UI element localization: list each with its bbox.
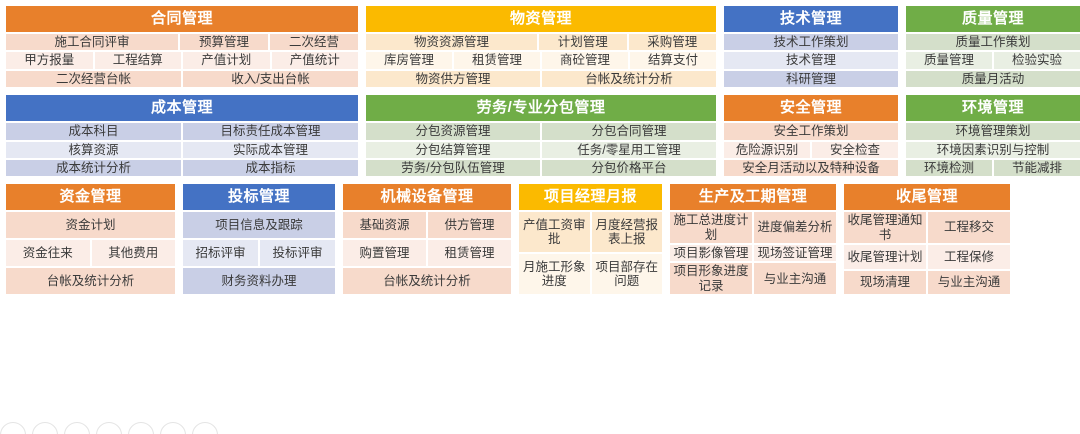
- decorative-circle: [160, 422, 186, 434]
- module-card-title[interactable]: 物资管理: [366, 6, 716, 32]
- module-cell-row: 基础资源供方管理: [343, 212, 511, 238]
- module-item[interactable]: 安全检查: [812, 142, 898, 158]
- module-item[interactable]: 分包价格平台: [542, 160, 716, 176]
- module-item[interactable]: 与业主沟通: [928, 271, 1010, 295]
- module-cell-row: 分包资源管理分包合同管理: [366, 123, 716, 139]
- module-card-title[interactable]: 技术管理: [724, 6, 898, 32]
- module-item[interactable]: 项目信息及跟踪: [183, 212, 335, 238]
- module-item[interactable]: 采购管理: [629, 34, 717, 50]
- module-item[interactable]: 安全月活动以及特种设备: [724, 160, 898, 176]
- module-cell-row: 项目信息及跟踪: [183, 212, 335, 238]
- module-card: 安全管理安全工作策划危险源识别安全检查安全月活动以及特种设备: [724, 95, 898, 176]
- module-card-title[interactable]: 劳务/专业分包管理: [366, 95, 716, 121]
- module-card-body: 产值工资审批月度经营报表上报月施工形象进度项目部存在问题: [519, 210, 662, 294]
- module-card: 质量管理质量工作策划质量管理检验实验质量月活动: [906, 6, 1080, 87]
- module-cell-row: 库房管理租赁管理商砼管理结算支付: [366, 52, 716, 68]
- module-cell-row: 危险源识别安全检查: [724, 142, 898, 158]
- module-card-body: 资金计划资金往来其他费用台帐及统计分析: [6, 210, 175, 294]
- module-cell-row: 成本科目目标责任成本管理: [6, 123, 358, 139]
- module-item[interactable]: 目标责任成本管理: [183, 123, 358, 139]
- module-cell-row: 现场清理与业主沟通: [844, 271, 1010, 295]
- module-cell-row: 收尾管理通知书工程移交: [844, 212, 1010, 243]
- module-item[interactable]: 资金计划: [6, 212, 175, 238]
- module-card-body: 项目信息及跟踪招标评审投标评审财务资料办理: [183, 210, 335, 294]
- decorative-circle: [32, 422, 58, 434]
- decorative-circle: [0, 422, 26, 434]
- module-card-body: 收尾管理通知书工程移交收尾管理计划工程保修现场清理与业主沟通: [844, 210, 1010, 294]
- module-item[interactable]: 工程保修: [928, 245, 1010, 269]
- module-cell-row: 质量工作策划: [906, 34, 1080, 50]
- module-item[interactable]: 租赁管理: [428, 240, 511, 266]
- module-item[interactable]: 月施工形象进度: [519, 254, 590, 294]
- module-item[interactable]: 工程结算: [95, 52, 182, 68]
- module-item[interactable]: 实际成本管理: [183, 142, 358, 158]
- module-card: 资金管理资金计划资金往来其他费用台帐及统计分析: [6, 184, 175, 294]
- module-item[interactable]: 二次经营台帐: [6, 71, 181, 87]
- module-cell-row: 甲方报量工程结算产值计划产值统计: [6, 52, 358, 68]
- module-card-title[interactable]: 机械设备管理: [343, 184, 511, 210]
- module-item[interactable]: 台帐及统计分析: [542, 71, 716, 87]
- module-cell-row: 物资资源管理计划管理采购管理: [366, 34, 716, 50]
- module-cell-row: 科研管理: [724, 71, 898, 87]
- module-card-title[interactable]: 质量管理: [906, 6, 1080, 32]
- module-card: 投标管理项目信息及跟踪招标评审投标评审财务资料办理: [183, 184, 335, 294]
- module-cell-row: 安全月活动以及特种设备: [724, 160, 898, 176]
- module-cell-row: 项目形象进度记录与业主沟通: [670, 263, 836, 294]
- module-cell-row: 质量管理检验实验: [906, 52, 1080, 68]
- module-card: 合同管理施工合同评审预算管理二次经营甲方报量工程结算产值计划产值统计二次经营台帐…: [6, 6, 358, 87]
- module-card-title[interactable]: 安全管理: [724, 95, 898, 121]
- module-card-body: 施工合同评审预算管理二次经营甲方报量工程结算产值计划产值统计二次经营台帐收入/支…: [6, 32, 358, 87]
- module-item[interactable]: 资金往来: [6, 240, 90, 266]
- module-item[interactable]: 任务/零星用工管理: [542, 142, 716, 158]
- module-cell-row: 收尾管理计划工程保修: [844, 245, 1010, 269]
- module-item[interactable]: 现场清理: [844, 271, 926, 295]
- module-card-body: 物资资源管理计划管理采购管理库房管理租赁管理商砼管理结算支付物资供方管理台帐及统…: [366, 32, 716, 87]
- module-item[interactable]: 投标评审: [260, 240, 335, 266]
- module-item[interactable]: 分包结算管理: [366, 142, 540, 158]
- module-item[interactable]: 安全工作策划: [724, 123, 898, 139]
- module-card: 物资管理物资资源管理计划管理采购管理库房管理租赁管理商砼管理结算支付物资供方管理…: [366, 6, 716, 87]
- module-item[interactable]: 预算管理: [180, 34, 268, 50]
- module-item[interactable]: 检验实验: [994, 52, 1080, 68]
- module-item[interactable]: 商砼管理: [542, 52, 628, 68]
- module-item[interactable]: 成本科目: [6, 123, 181, 139]
- module-cell-row: 劳务/分包队伍管理分包价格平台: [366, 160, 716, 176]
- module-cell-row: 施工合同评审预算管理二次经营: [6, 34, 358, 50]
- module-item[interactable]: 技术工作策划: [724, 34, 898, 50]
- module-card: 项目经理月报产值工资审批月度经营报表上报月施工形象进度项目部存在问题: [519, 184, 662, 294]
- module-item[interactable]: 月度经营报表上报: [592, 212, 663, 252]
- module-item[interactable]: 库房管理: [366, 52, 452, 68]
- module-item[interactable]: 质量工作策划: [906, 34, 1080, 50]
- module-card: 技术管理技术工作策划技术管理科研管理: [724, 6, 898, 87]
- module-item[interactable]: 产值统计: [272, 52, 359, 68]
- module-row: 合同管理施工合同评审预算管理二次经营甲方报量工程结算产值计划产值统计二次经营台帐…: [6, 6, 1074, 87]
- module-item[interactable]: 环境因素识别与控制: [906, 142, 1080, 158]
- module-item[interactable]: 施工总进度计划: [670, 212, 752, 243]
- module-item[interactable]: 台帐及统计分析: [6, 268, 175, 294]
- module-card: 成本管理成本科目目标责任成本管理核算资源实际成本管理成本统计分析成本指标: [6, 95, 358, 176]
- module-item[interactable]: 产值工资审批: [519, 212, 590, 252]
- module-item[interactable]: 甲方报量: [6, 52, 93, 68]
- module-item[interactable]: 供方管理: [428, 212, 511, 238]
- module-item[interactable]: 核算资源: [6, 142, 181, 158]
- module-card-title[interactable]: 收尾管理: [844, 184, 1010, 210]
- module-item[interactable]: 租赁管理: [454, 52, 540, 68]
- module-cell-row: 财务资料办理: [183, 268, 335, 294]
- module-item[interactable]: 结算支付: [630, 52, 716, 68]
- module-item[interactable]: 质量管理: [906, 52, 992, 68]
- module-item[interactable]: 招标评审: [183, 240, 258, 266]
- module-cell-row: 质量月活动: [906, 71, 1080, 87]
- module-item[interactable]: 产值计划: [183, 52, 270, 68]
- module-cell-row: 环境因素识别与控制: [906, 142, 1080, 158]
- module-card: 机械设备管理基础资源供方管理购置管理租赁管理台帐及统计分析: [343, 184, 511, 294]
- module-cell-row: 资金往来其他费用: [6, 240, 175, 266]
- module-cell-row: 核算资源实际成本管理: [6, 142, 358, 158]
- module-card-title[interactable]: 投标管理: [183, 184, 335, 210]
- module-card-body: 基础资源供方管理购置管理租赁管理台帐及统计分析: [343, 210, 511, 294]
- module-item[interactable]: 成本指标: [183, 160, 358, 176]
- module-item[interactable]: 物资资源管理: [366, 34, 537, 50]
- module-card: 生产及工期管理施工总进度计划进度偏差分析项目影像管理现场签证管理项目形象进度记录…: [670, 184, 836, 294]
- module-item[interactable]: 收尾管理计划: [844, 245, 926, 269]
- decorative-circles: [0, 422, 218, 434]
- module-card-body: 环境管理策划环境因素识别与控制环境检测节能减排: [906, 121, 1080, 176]
- module-map-canvas: 合同管理施工合同评审预算管理二次经营甲方报量工程结算产值计划产值统计二次经营台帐…: [0, 0, 1080, 434]
- module-item[interactable]: 质量月活动: [906, 71, 1080, 87]
- module-card-body: 施工总进度计划进度偏差分析项目影像管理现场签证管理项目形象进度记录与业主沟通: [670, 210, 836, 294]
- module-item[interactable]: 与业主沟通: [754, 263, 836, 294]
- module-item[interactable]: 劳务/分包队伍管理: [366, 160, 540, 176]
- module-cell-row: 资金计划: [6, 212, 175, 238]
- module-item[interactable]: 物资供方管理: [366, 71, 540, 87]
- module-item[interactable]: 其他费用: [92, 240, 176, 266]
- module-card-title[interactable]: 环境管理: [906, 95, 1080, 121]
- module-item[interactable]: 节能减排: [994, 160, 1080, 176]
- module-card-title[interactable]: 项目经理月报: [519, 184, 662, 210]
- module-item[interactable]: 成本统计分析: [6, 160, 181, 176]
- module-card-body: 技术工作策划技术管理科研管理: [724, 32, 898, 87]
- module-card: 环境管理环境管理策划环境因素识别与控制环境检测节能减排: [906, 95, 1080, 176]
- module-item[interactable]: 分包合同管理: [542, 123, 716, 139]
- module-cell-row: 技术管理: [724, 52, 898, 68]
- module-item[interactable]: 财务资料办理: [183, 268, 335, 294]
- module-item[interactable]: 项目影像管理: [670, 245, 752, 261]
- module-cell-row: 施工总进度计划进度偏差分析: [670, 212, 836, 243]
- module-item[interactable]: 工程移交: [928, 212, 1010, 243]
- decorative-circle: [192, 422, 218, 434]
- module-cell-row: 分包结算管理任务/零星用工管理: [366, 142, 716, 158]
- module-item[interactable]: 进度偏差分析: [754, 212, 836, 243]
- decorative-circle: [64, 422, 90, 434]
- module-card-body: 成本科目目标责任成本管理核算资源实际成本管理成本统计分析成本指标: [6, 121, 358, 176]
- decorative-circle: [96, 422, 122, 434]
- module-card-title[interactable]: 成本管理: [6, 95, 358, 121]
- module-item[interactable]: 环境管理策划: [906, 123, 1080, 139]
- module-cell-row: 二次经营台帐收入/支出台帐: [6, 71, 358, 87]
- module-card-title[interactable]: 合同管理: [6, 6, 358, 32]
- module-item[interactable]: 危险源识别: [724, 142, 810, 158]
- module-item[interactable]: 基础资源: [343, 212, 426, 238]
- module-cell-row: 成本统计分析成本指标: [6, 160, 358, 176]
- module-cell-row: 招标评审投标评审: [183, 240, 335, 266]
- module-cell-row: 安全工作策划: [724, 123, 898, 139]
- module-row: 成本管理成本科目目标责任成本管理核算资源实际成本管理成本统计分析成本指标劳务/专…: [6, 95, 1074, 176]
- module-cell-row: 购置管理租赁管理: [343, 240, 511, 266]
- module-cell-row: 台帐及统计分析: [343, 268, 511, 294]
- module-card-title[interactable]: 生产及工期管理: [670, 184, 836, 210]
- module-row: 资金管理资金计划资金往来其他费用台帐及统计分析投标管理项目信息及跟踪招标评审投标…: [6, 184, 1074, 294]
- module-item[interactable]: 收尾管理通知书: [844, 212, 926, 243]
- module-card: 劳务/专业分包管理分包资源管理分包合同管理分包结算管理任务/零星用工管理劳务/分…: [366, 95, 716, 176]
- module-item[interactable]: 项目部存在问题: [592, 254, 663, 294]
- module-cell-row: 物资供方管理台帐及统计分析: [366, 71, 716, 87]
- module-item[interactable]: 购置管理: [343, 240, 426, 266]
- module-item[interactable]: 科研管理: [724, 71, 898, 87]
- module-cell-row: 环境管理策划: [906, 123, 1080, 139]
- module-cell-row: 项目影像管理现场签证管理: [670, 245, 836, 261]
- module-cell-row: 产值工资审批月度经营报表上报: [519, 212, 662, 252]
- module-item[interactable]: 计划管理: [539, 34, 627, 50]
- module-cell-row: 技术工作策划: [724, 34, 898, 50]
- module-item[interactable]: 分包资源管理: [366, 123, 540, 139]
- module-card-title[interactable]: 资金管理: [6, 184, 175, 210]
- module-item[interactable]: 项目形象进度记录: [670, 263, 752, 294]
- module-item[interactable]: 环境检测: [906, 160, 992, 176]
- module-card-body: 质量工作策划质量管理检验实验质量月活动: [906, 32, 1080, 87]
- module-item[interactable]: 技术管理: [724, 52, 898, 68]
- module-cell-row: 环境检测节能减排: [906, 160, 1080, 176]
- module-cell-row: 台帐及统计分析: [6, 268, 175, 294]
- decorative-circle: [128, 422, 154, 434]
- module-rows: 合同管理施工合同评审预算管理二次经营甲方报量工程结算产值计划产值统计二次经营台帐…: [6, 6, 1074, 294]
- module-item[interactable]: 现场签证管理: [754, 245, 836, 261]
- module-item[interactable]: 施工合同评审: [6, 34, 178, 50]
- module-cell-row: 月施工形象进度项目部存在问题: [519, 254, 662, 294]
- module-item[interactable]: 台帐及统计分析: [343, 268, 511, 294]
- module-card-body: 分包资源管理分包合同管理分包结算管理任务/零星用工管理劳务/分包队伍管理分包价格…: [366, 121, 716, 176]
- module-item[interactable]: 收入/支出台帐: [183, 71, 358, 87]
- module-item[interactable]: 二次经营: [270, 34, 358, 50]
- module-card: 收尾管理收尾管理通知书工程移交收尾管理计划工程保修现场清理与业主沟通: [844, 184, 1010, 294]
- module-card-body: 安全工作策划危险源识别安全检查安全月活动以及特种设备: [724, 121, 898, 176]
